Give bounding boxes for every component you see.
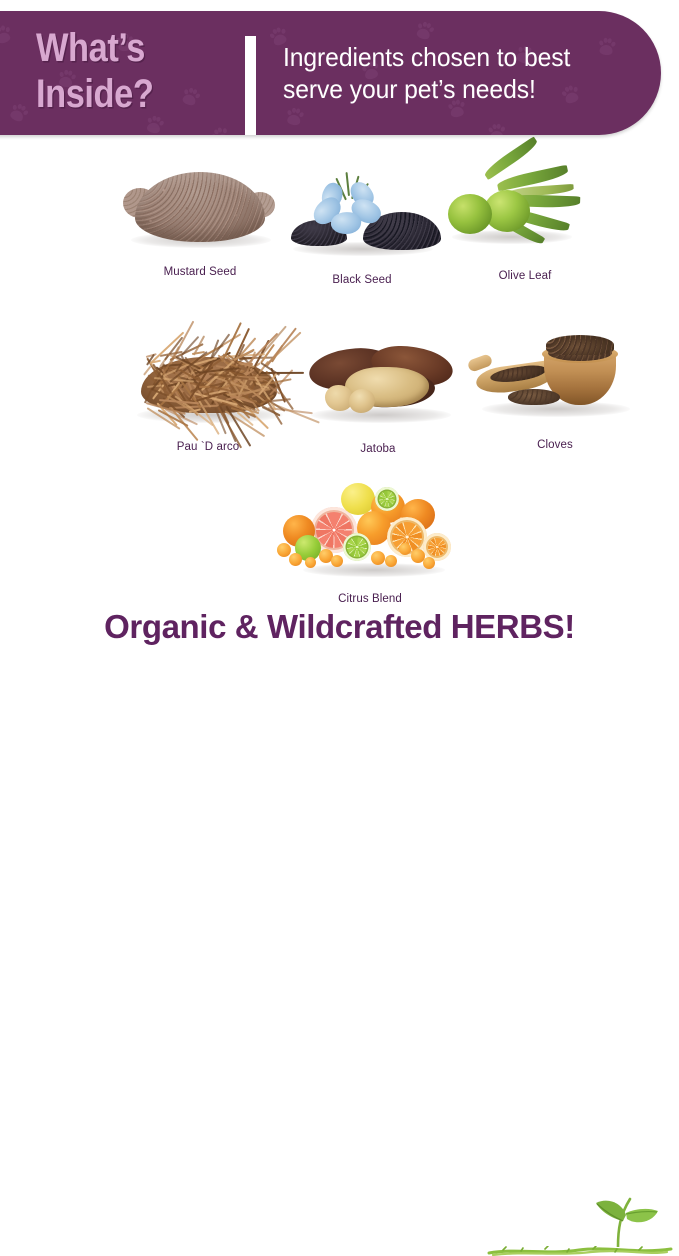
- ingredient-item-black-seed: Black Seed: [267, 158, 457, 286]
- ingredient-label: Black Seed: [267, 274, 457, 286]
- ingredient-item-jatoba: Jatoba: [283, 327, 473, 455]
- ingredient-label: Jatoba: [283, 443, 473, 455]
- citrus-blend-icon: [275, 477, 465, 589]
- header-divider: [245, 36, 256, 135]
- jatoba-icon: [283, 327, 473, 439]
- ingredient-item-cloves: Cloves: [460, 323, 650, 451]
- header-banner: What’s Inside? Ingredients chosen to bes…: [0, 11, 661, 135]
- header-subtitle: Ingredients chosen to best serve your pe…: [283, 41, 616, 105]
- header-title-line2: Inside?: [36, 71, 199, 117]
- ingredient-grid: Mustard Seed: [0, 150, 679, 603]
- ingredient-item-pau-d-arco: Pau `D arco: [113, 325, 303, 453]
- ingredient-row: Pau `D arco Jatoba: [0, 315, 679, 483]
- ingredient-label: Olive Leaf: [430, 270, 620, 282]
- pau-d-arco-icon: [113, 325, 303, 437]
- cloves-icon: [460, 323, 650, 435]
- header-subtitle-line1: Ingredients chosen to best: [283, 41, 616, 73]
- sprout-leaf-icon: [574, 1195, 664, 1247]
- footer-headline: Organic & Wildcrafted HERBS!: [0, 608, 679, 646]
- header-title-line1: What’s: [36, 25, 199, 71]
- header-title: What’s Inside?: [36, 25, 199, 117]
- ingredient-item-citrus-blend: Citrus Blend: [275, 477, 465, 605]
- ingredient-row: Citrus Blend: [0, 483, 679, 603]
- ingredient-item-olive-leaf: Olive Leaf: [430, 154, 620, 282]
- ingredient-label: Cloves: [460, 439, 650, 451]
- ingredient-label: Pau `D arco: [113, 441, 303, 453]
- ingredient-row: Mustard Seed: [0, 150, 679, 315]
- header-subtitle-line2: serve your pet’s needs!: [283, 73, 616, 105]
- grass-underline-icon: [487, 1246, 673, 1256]
- olive-leaf-icon: [430, 154, 620, 266]
- footer: Organic & Wildcrafted HERBS!: [0, 600, 679, 667]
- black-seed-icon: [267, 158, 457, 270]
